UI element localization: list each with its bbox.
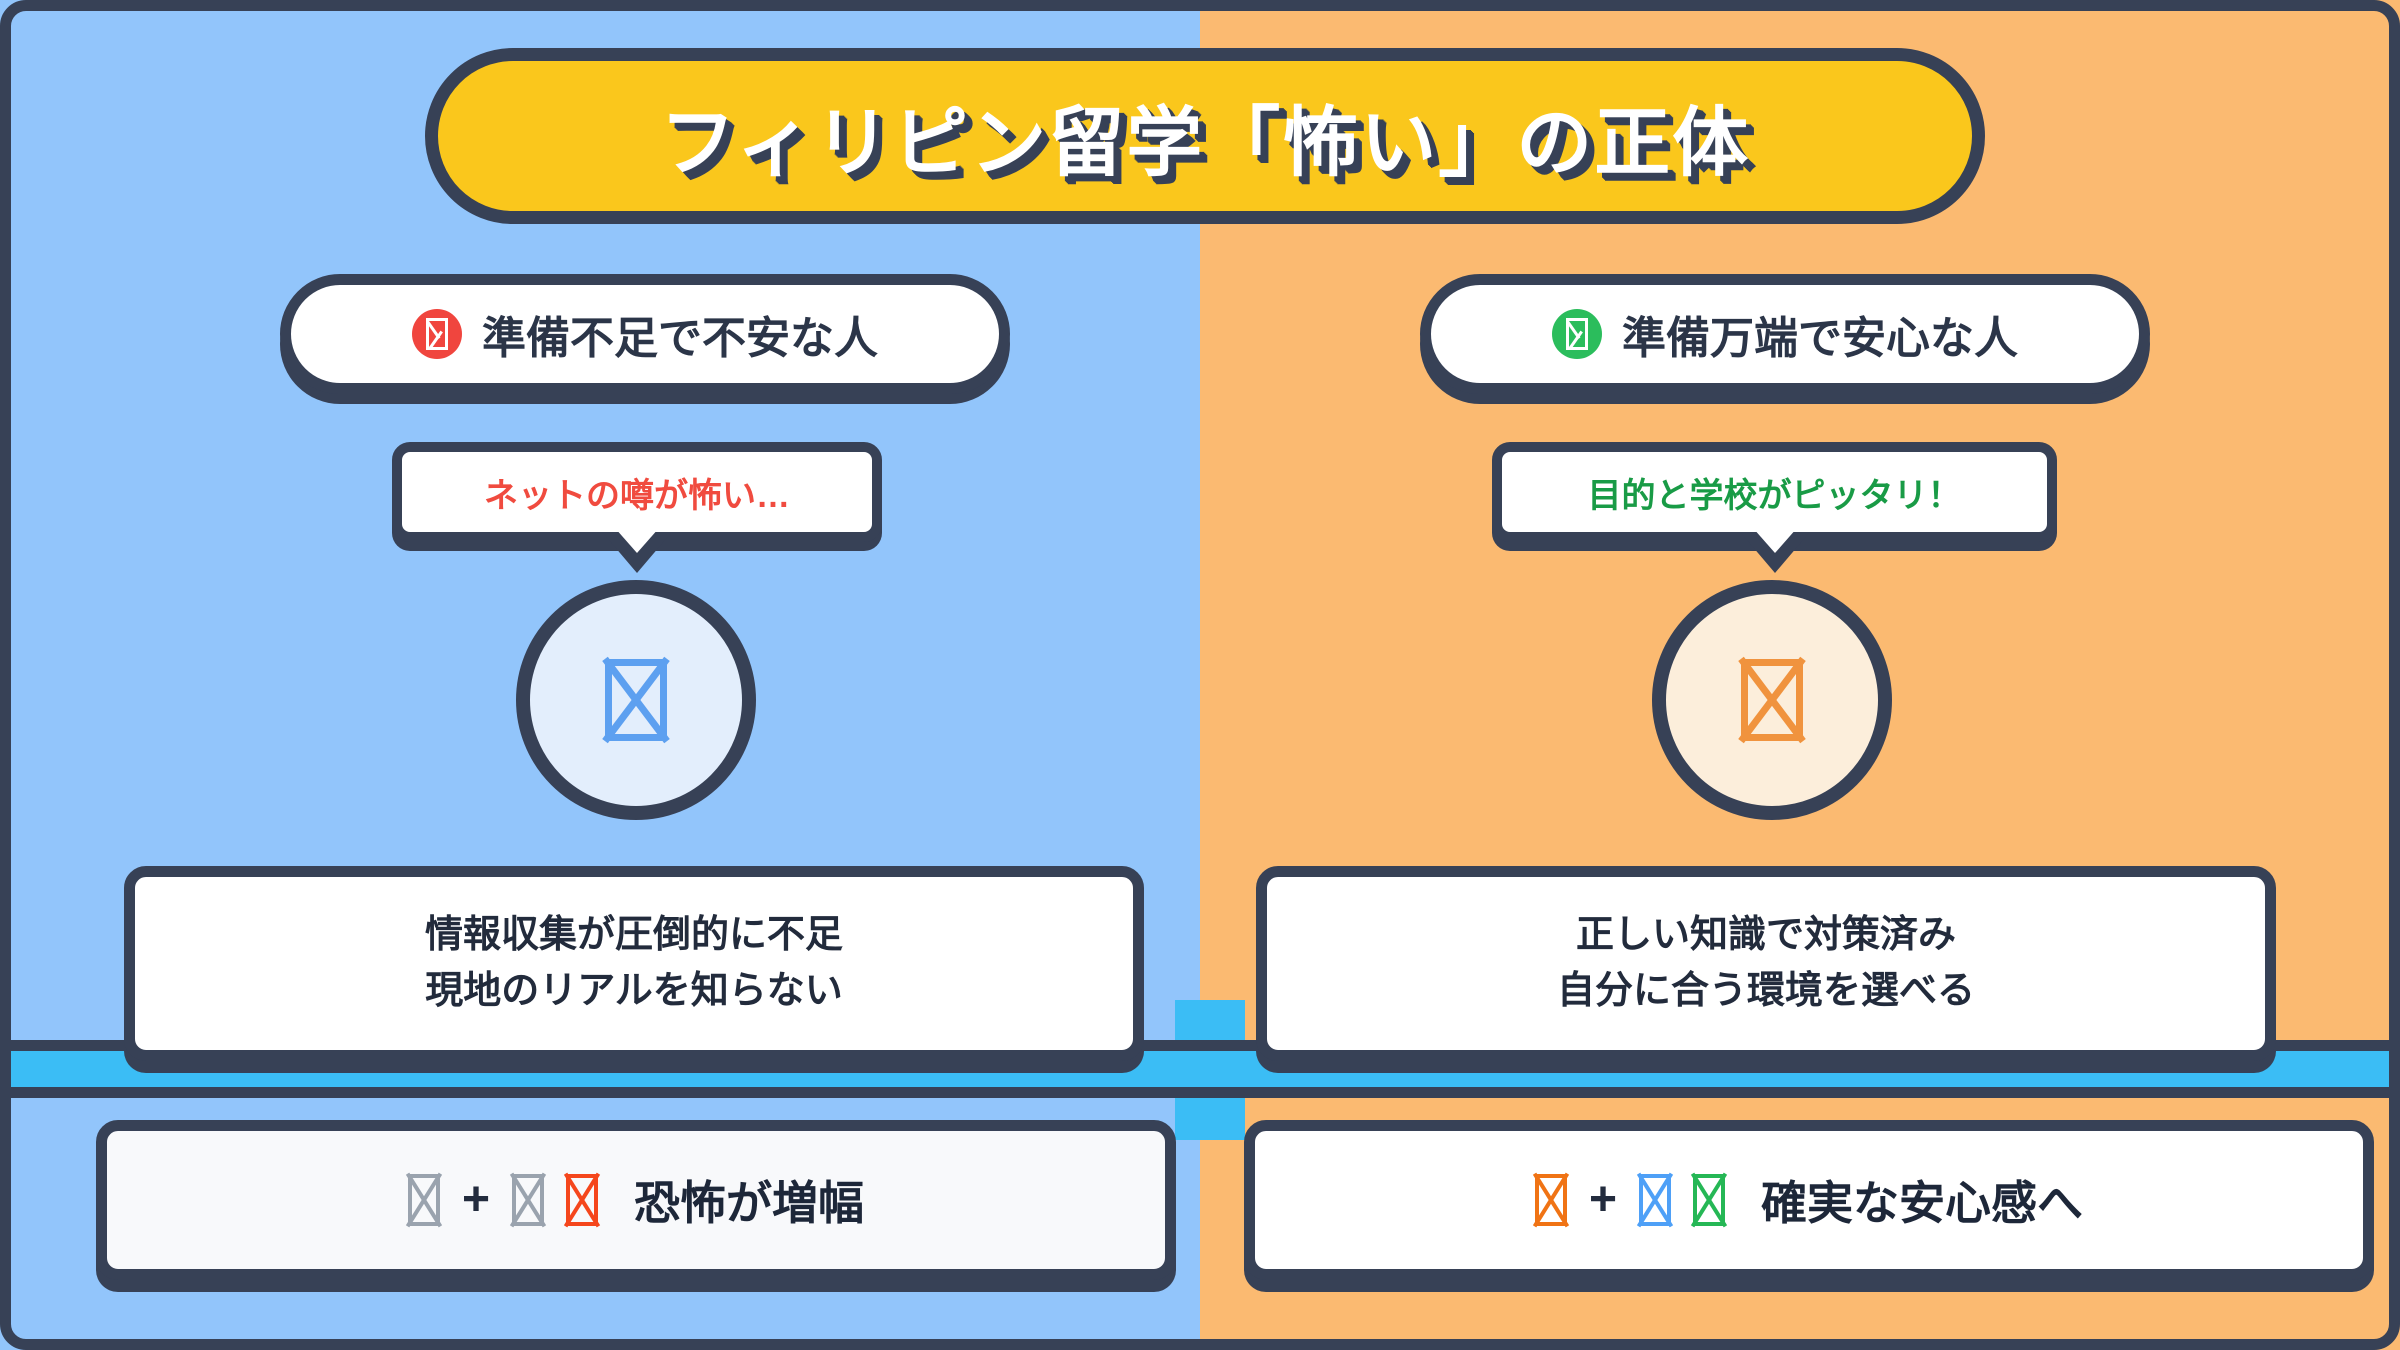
orange-tofu-glyph-icon-result — [1535, 1174, 1567, 1226]
description-card-right: 正しい知識で対策済み 自分に合う環境を選べる — [1256, 866, 2276, 1061]
description-right-line1: 正しい知識で対策済み — [1576, 908, 1956, 963]
result-bar-left: + 恐怖が増幅 — [96, 1120, 1176, 1280]
gray-tofu-glyph-icon-1 — [408, 1174, 440, 1226]
column-header-left-label: 準備不足で不安な人 — [482, 302, 878, 366]
tofu-glyph-icon — [1566, 318, 1588, 350]
speech-bubble-left: ネットの噂が怖い… — [392, 442, 882, 542]
avatar-right — [1652, 580, 1892, 820]
plus-sign-right: + — [1589, 1176, 1617, 1224]
green-tofu-glyph-icon-result — [1693, 1174, 1725, 1226]
description-right-line2: 自分に合う環境を選べる — [1557, 964, 1975, 1019]
speech-bubble-left-text: ネットの噂が怖い… — [484, 468, 790, 517]
page-title: フィリピン留学「怖い」の正体 — [660, 81, 1750, 191]
blue-tofu-glyph-icon — [605, 659, 667, 741]
column-header-left: 準備不足で不安な人 — [280, 274, 1010, 394]
result-label-right: 確実な安心感へ — [1761, 1167, 2083, 1233]
description-card-left: 情報収集が圧倒的に不足 現地のリアルを知らない — [124, 866, 1144, 1061]
red-cross-circle-icon — [412, 309, 462, 359]
description-left-line2: 現地のリアルを知らない — [425, 964, 843, 1019]
blue-tofu-glyph-icon-result — [1639, 1174, 1671, 1226]
result-label-left: 恐怖が増幅 — [634, 1167, 864, 1233]
infographic-canvas: 準備不足で不安な人 ネットの噂が怖い… 情報収集が圧倒的に不足 現地のリアルを知… — [0, 0, 2400, 1350]
speech-bubble-right-tail-fill — [1753, 528, 1797, 553]
speech-bubble-right-text: 目的と学校がピッタリ！ — [1588, 468, 1962, 517]
plus-sign-left: + — [462, 1176, 490, 1224]
gray-tofu-glyph-icon-2 — [512, 1174, 544, 1226]
description-left-line1: 情報収集が圧倒的に不足 — [425, 908, 843, 963]
result-bar-right: + 確実な安心感へ — [1244, 1120, 2374, 1280]
speech-bubble-right: 目的と学校がピッタリ！ — [1492, 442, 2057, 542]
speech-bubble-left-tail-fill — [615, 528, 659, 553]
green-cross-circle-icon — [1552, 309, 1602, 359]
column-header-right: 準備万端で安心な人 — [1420, 274, 2150, 394]
column-header-right-label: 準備万端で安心な人 — [1622, 302, 2018, 366]
tofu-glyph-icon — [426, 318, 448, 350]
orange-tofu-glyph-icon — [1741, 659, 1803, 741]
avatar-left — [516, 580, 756, 820]
title-pill: フィリピン留学「怖い」の正体 — [425, 48, 1985, 224]
red-tofu-glyph-icon — [566, 1174, 598, 1226]
